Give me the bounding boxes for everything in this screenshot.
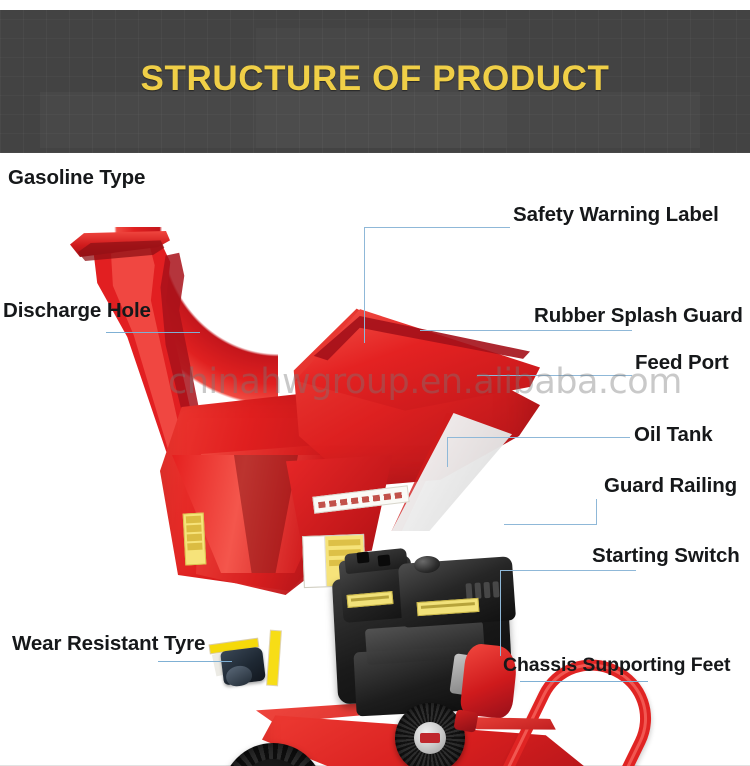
yellow-caution-stripe-2 <box>267 631 281 686</box>
engine-stud-1 <box>356 551 369 563</box>
leader-line-starting-switch-v <box>500 570 501 656</box>
warning-sticker-chute <box>183 512 207 565</box>
callout-wear-resistant-tyre: Wear Resistant Tyre <box>12 634 205 655</box>
leader-line-guard-railing-h <box>504 524 596 525</box>
header-banner: STRUCTURE OF PRODUCT <box>0 10 750 153</box>
callout-chassis-supporting-feet: Chassis Supporting Feet <box>503 656 730 676</box>
leader-line-oil-tank-v <box>447 437 448 467</box>
leader-line-chassis-supporting-feet <box>520 681 648 682</box>
callout-discharge-hole: Discharge Hole <box>3 301 151 322</box>
leader-line-discharge-hole <box>106 332 200 333</box>
page-title: STRUCTURE OF PRODUCT <box>0 10 750 153</box>
leader-line-starting-switch-h <box>500 570 636 571</box>
callout-guard-railing: Guard Railing <box>604 476 737 497</box>
callout-rubber-splash-guard: Rubber Splash Guard <box>534 306 743 327</box>
callout-feed-port: Feed Port <box>635 353 729 374</box>
callout-starting-switch: Starting Switch <box>592 546 740 567</box>
leader-line-oil-tank-h <box>447 437 630 438</box>
recoil-starter-decal <box>420 733 440 743</box>
leader-line-safety-warning-label-v <box>364 227 365 343</box>
leader-line-rubber-splash-guard <box>420 330 632 331</box>
product-structure-page: STRUCTURE OF PRODUCT <box>0 0 750 766</box>
callout-gasoline-type: Gasoline Type <box>8 168 145 189</box>
callout-oil-tank: Oil Tank <box>634 425 713 446</box>
leader-line-safety-warning-label-h <box>364 227 510 228</box>
leader-line-guard-railing-v <box>596 499 597 525</box>
leader-line-feed-port <box>477 375 632 376</box>
engine-stud-2 <box>377 554 390 566</box>
leader-line-wear-resistant-tyre <box>158 661 232 662</box>
engine-vents <box>465 580 510 599</box>
callout-safety-warning-label: Safety Warning Label <box>513 205 719 226</box>
guard-railing-joint <box>453 709 478 733</box>
